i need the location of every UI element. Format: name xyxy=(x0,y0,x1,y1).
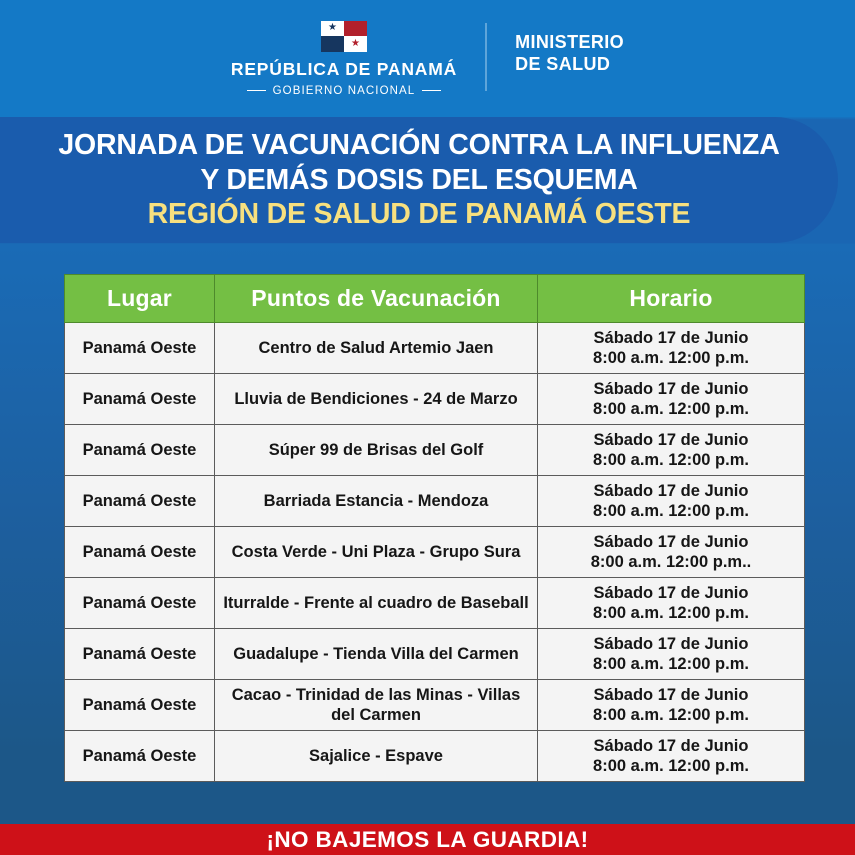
horario-fecha: Sábado 17 de Junio xyxy=(542,481,800,501)
cell-horario: Sábado 17 de Junio8:00 a.m. 12:00 p.m. xyxy=(538,578,805,629)
ministry-line-2: DE SALUD xyxy=(515,53,624,75)
cell-lugar: Panamá Oeste xyxy=(65,578,215,629)
horario-hora: 8:00 a.m. 12:00 p.m. xyxy=(542,756,800,776)
table-row: Panamá OesteGuadalupe - Tienda Villa del… xyxy=(65,629,805,680)
ministry-line-1: MINISTERIO xyxy=(515,31,624,53)
table-header-row: Lugar Puntos de Vacunación Horario xyxy=(65,275,805,323)
cell-horario: Sábado 17 de Junio8:00 a.m. 12:00 p.m.. xyxy=(538,527,805,578)
star-icon: ★ xyxy=(328,23,337,33)
horario-fecha: Sábado 17 de Junio xyxy=(542,379,800,399)
horario-fecha: Sábado 17 de Junio xyxy=(542,736,800,756)
dash-left-icon xyxy=(247,90,266,92)
cell-punto-vacunacion: Barriada Estancia - Mendoza xyxy=(215,476,538,527)
page-header: ★ ★ REPÚBLICA DE PANAMÁ GOBIERNO NACIONA… xyxy=(0,0,855,117)
cell-lugar: Panamá Oeste xyxy=(65,731,215,782)
table-body: Panamá OesteCentro de Salud Artemio Jaen… xyxy=(65,323,805,782)
column-header-lugar: Lugar xyxy=(65,275,215,323)
cell-horario: Sábado 17 de Junio8:00 a.m. 12:00 p.m. xyxy=(538,629,805,680)
table-row: Panamá OesteBarriada Estancia - MendozaS… xyxy=(65,476,805,527)
title-banner: JORNADA DE VACUNACIÓN CONTRA LA INFLUENZ… xyxy=(0,117,838,243)
table-row: Panamá OesteCacao - Trinidad de las Mina… xyxy=(65,680,805,731)
government-branding: ★ ★ REPÚBLICA DE PANAMÁ GOBIERNO NACIONA… xyxy=(231,21,485,97)
cell-horario: Sábado 17 de Junio8:00 a.m. 12:00 p.m. xyxy=(538,425,805,476)
cell-lugar: Panamá Oeste xyxy=(65,527,215,578)
dash-right-icon xyxy=(422,90,441,92)
cell-punto-vacunacion: Centro de Salud Artemio Jaen xyxy=(215,323,538,374)
ministry-branding: MINISTERIO DE SALUD xyxy=(487,21,624,76)
cell-lugar: Panamá Oeste xyxy=(65,680,215,731)
banner-line-3: REGIÓN DE SALUD DE PANAMÁ OESTE xyxy=(148,197,691,231)
footer-banner: ¡NO BAJEMOS LA GUARDIA! xyxy=(0,824,855,855)
cell-horario: Sábado 17 de Junio8:00 a.m. 12:00 p.m. xyxy=(538,680,805,731)
table-row: Panamá OesteLluvia de Bendiciones - 24 d… xyxy=(65,374,805,425)
government-subtitle-row: GOBIERNO NACIONAL xyxy=(247,85,442,97)
horario-fecha: Sábado 17 de Junio xyxy=(542,583,800,603)
horario-fecha: Sábado 17 de Junio xyxy=(542,430,800,450)
banner-line-2: Y DEMÁS DOSIS DEL ESQUEMA xyxy=(200,163,637,197)
panama-flag-icon: ★ ★ xyxy=(321,21,367,52)
column-header-puntos: Puntos de Vacunación xyxy=(215,275,538,323)
cell-lugar: Panamá Oeste xyxy=(65,323,215,374)
cell-punto-vacunacion: Cacao - Trinidad de las Minas - Villas d… xyxy=(215,680,538,731)
cell-punto-vacunacion: Sajalice - Espave xyxy=(215,731,538,782)
flag-quadrant-bottom-right: ★ xyxy=(344,36,367,52)
horario-fecha: Sábado 17 de Junio xyxy=(542,685,800,705)
horario-fecha: Sábado 17 de Junio xyxy=(542,532,800,552)
horario-hora: 8:00 a.m. 12:00 p.m.. xyxy=(542,552,800,572)
schedule-table: Lugar Puntos de Vacunación Horario Panam… xyxy=(64,274,805,782)
flag-quadrant-bottom-left xyxy=(321,36,344,52)
cell-lugar: Panamá Oeste xyxy=(65,374,215,425)
header-content: ★ ★ REPÚBLICA DE PANAMÁ GOBIERNO NACIONA… xyxy=(231,21,624,97)
table-row: Panamá OesteIturralde - Frente al cuadro… xyxy=(65,578,805,629)
table-head: Lugar Puntos de Vacunación Horario xyxy=(65,275,805,323)
cell-horario: Sábado 17 de Junio8:00 a.m. 12:00 p.m. xyxy=(538,323,805,374)
banner-line-1: JORNADA DE VACUNACIÓN CONTRA LA INFLUENZ… xyxy=(58,128,779,162)
cell-lugar: Panamá Oeste xyxy=(65,425,215,476)
table-row: Panamá OesteCosta Verde - Uni Plaza - Gr… xyxy=(65,527,805,578)
cell-punto-vacunacion: Lluvia de Bendiciones - 24 de Marzo xyxy=(215,374,538,425)
table-row: Panamá OesteSajalice - EspaveSábado 17 d… xyxy=(65,731,805,782)
schedule-table-container: Lugar Puntos de Vacunación Horario Panam… xyxy=(64,274,795,782)
poster-canvas: ★ ★ REPÚBLICA DE PANAMÁ GOBIERNO NACIONA… xyxy=(0,0,855,855)
horario-hora: 8:00 a.m. 12:00 p.m. xyxy=(542,348,800,368)
horario-hora: 8:00 a.m. 12:00 p.m. xyxy=(542,450,800,470)
horario-hora: 8:00 a.m. 12:00 p.m. xyxy=(542,654,800,674)
cell-punto-vacunacion: Iturralde - Frente al cuadro de Baseball xyxy=(215,578,538,629)
star-icon: ★ xyxy=(351,39,360,49)
cell-punto-vacunacion: Costa Verde - Uni Plaza - Grupo Sura xyxy=(215,527,538,578)
table-row: Panamá OesteCentro de Salud Artemio Jaen… xyxy=(65,323,805,374)
cell-punto-vacunacion: Guadalupe - Tienda Villa del Carmen xyxy=(215,629,538,680)
column-header-horario: Horario xyxy=(538,275,805,323)
horario-hora: 8:00 a.m. 12:00 p.m. xyxy=(542,603,800,623)
table-row: Panamá OesteSúper 99 de Brisas del GolfS… xyxy=(65,425,805,476)
government-title: REPÚBLICA DE PANAMÁ xyxy=(231,59,457,80)
cell-lugar: Panamá Oeste xyxy=(65,476,215,527)
cell-horario: Sábado 17 de Junio8:00 a.m. 12:00 p.m. xyxy=(538,731,805,782)
horario-hora: 8:00 a.m. 12:00 p.m. xyxy=(542,501,800,521)
cell-horario: Sábado 17 de Junio8:00 a.m. 12:00 p.m. xyxy=(538,476,805,527)
horario-fecha: Sábado 17 de Junio xyxy=(542,634,800,654)
cell-punto-vacunacion: Súper 99 de Brisas del Golf xyxy=(215,425,538,476)
cell-lugar: Panamá Oeste xyxy=(65,629,215,680)
cell-horario: Sábado 17 de Junio8:00 a.m. 12:00 p.m. xyxy=(538,374,805,425)
horario-hora: 8:00 a.m. 12:00 p.m. xyxy=(542,399,800,419)
flag-quadrant-top-right xyxy=(344,21,367,37)
footer-slogan: ¡NO BAJEMOS LA GUARDIA! xyxy=(266,827,588,853)
government-subtitle: GOBIERNO NACIONAL xyxy=(273,85,416,97)
horario-fecha: Sábado 17 de Junio xyxy=(542,328,800,348)
flag-quadrant-top-left: ★ xyxy=(321,21,344,37)
horario-hora: 8:00 a.m. 12:00 p.m. xyxy=(542,705,800,725)
